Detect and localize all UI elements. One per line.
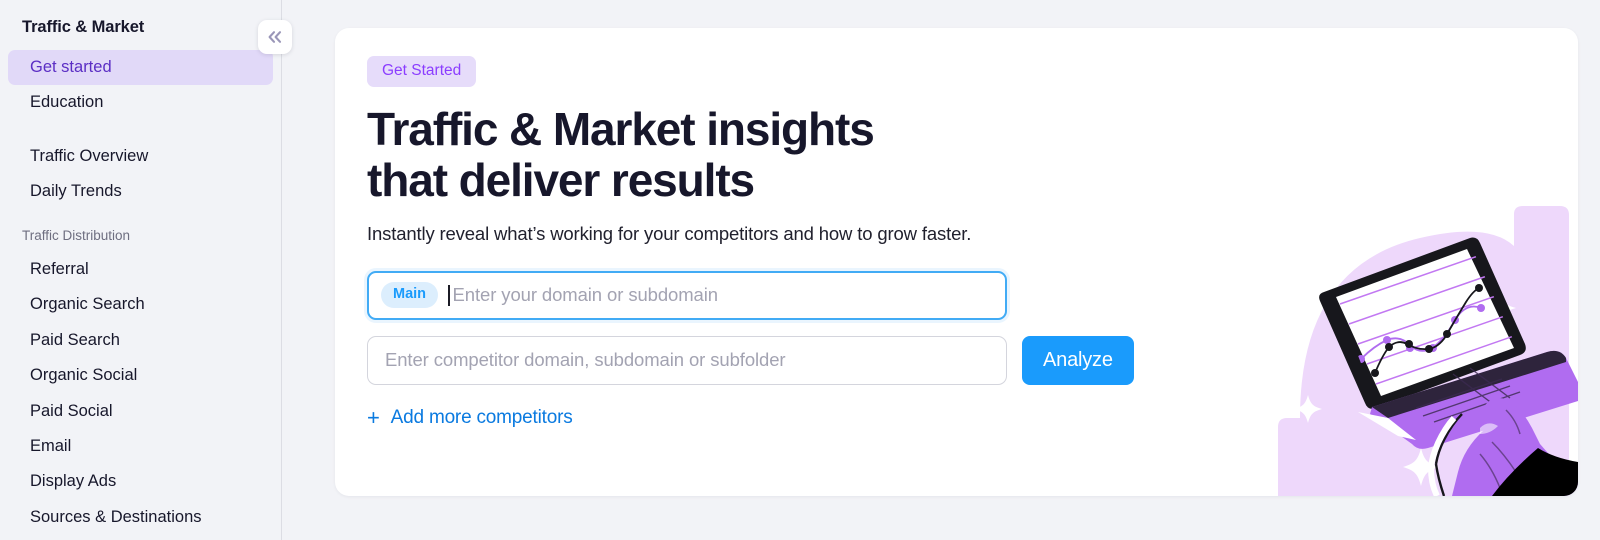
competitor-domain-placeholder: Enter competitor domain, subdomain or su…: [385, 349, 785, 371]
main-content: Get Started Traffic & Market insights th…: [282, 0, 1600, 540]
main-domain-placeholder: Enter your domain or subdomain: [453, 284, 718, 306]
sidebar-divider-gap-1: [0, 121, 281, 139]
sidebar-item-label: Get started: [30, 58, 112, 76]
competitor-row: Enter competitor domain, subdomain or su…: [367, 336, 1578, 385]
add-more-competitors-button[interactable]: + Add more competitors: [367, 407, 573, 429]
sidebar-item-email[interactable]: Email: [8, 429, 273, 464]
status-badge: Get Started: [367, 56, 476, 87]
sidebar-item-label: Daily Trends: [30, 182, 122, 200]
sidebar-title: Traffic & Market: [0, 18, 281, 37]
sidebar-item-paid-search[interactable]: Paid Search: [8, 323, 273, 358]
sidebar-item-traffic-overview[interactable]: Traffic Overview: [8, 139, 273, 174]
sidebar-item-referral[interactable]: Referral: [8, 252, 273, 287]
sidebar-group-traffic-distribution: Referral Organic Search Paid Search Orga…: [0, 252, 281, 536]
analyze-button[interactable]: Analyze: [1022, 336, 1134, 385]
competitor-domain-field[interactable]: Enter competitor domain, subdomain or su…: [367, 336, 1007, 385]
double-chevron-left-icon: [265, 29, 285, 45]
sidebar-item-label: Referral: [30, 260, 89, 278]
sidebar-item-label: Email: [30, 437, 71, 455]
sidebar-item-label: Paid Search: [30, 331, 120, 349]
add-more-competitors-label: Add more competitors: [391, 407, 573, 429]
card-content: Get Started Traffic & Market insights th…: [335, 28, 1578, 430]
sidebar-section-traffic-distribution: Traffic Distribution: [0, 228, 281, 243]
sidebar-item-label: Organic Search: [30, 295, 145, 313]
page-subtitle: Instantly reveal what’s working for your…: [367, 223, 1578, 245]
get-started-card: Get Started Traffic & Market insights th…: [335, 28, 1578, 496]
sidebar-item-organic-social[interactable]: Organic Social: [8, 358, 273, 393]
text-caret: [448, 285, 450, 306]
sidebar-item-education[interactable]: Education: [8, 85, 273, 120]
sidebar-item-label: Education: [30, 93, 103, 111]
sidebar-item-daily-trends[interactable]: Daily Trends: [8, 174, 273, 209]
main-tag-badge: Main: [381, 282, 438, 308]
sidebar-group-primary: Get started Education: [0, 50, 281, 121]
page-title: Traffic & Market insights that deliver r…: [367, 104, 1578, 206]
sidebar-item-label: Sources & Destinations: [30, 508, 202, 526]
sidebar-divider-gap-2: [0, 210, 281, 228]
sidebar-item-organic-search[interactable]: Organic Search: [8, 287, 273, 322]
main-domain-field[interactable]: Main Enter your domain or subdomain: [367, 271, 1007, 320]
sidebar-item-label: Traffic Overview: [30, 147, 148, 165]
sidebar-item-label: Organic Social: [30, 366, 137, 384]
sidebar-item-sources-destinations[interactable]: Sources & Destinations: [8, 500, 273, 535]
sidebar-item-label: Paid Social: [30, 402, 113, 420]
sidebar: Traffic & Market Get started Education T…: [0, 0, 282, 540]
sidebar-item-label: Display Ads: [30, 472, 116, 490]
sidebar-item-paid-social[interactable]: Paid Social: [8, 394, 273, 429]
sidebar-item-display-ads[interactable]: Display Ads: [8, 464, 273, 499]
app-root: Traffic & Market Get started Education T…: [0, 0, 1600, 540]
plus-icon: +: [367, 407, 380, 429]
domain-analysis-form: Main Enter your domain or subdomain Ente…: [367, 271, 1578, 430]
sidebar-collapse-button[interactable]: [258, 20, 292, 54]
sidebar-group-overview: Traffic Overview Daily Trends: [0, 139, 281, 210]
sidebar-item-get-started[interactable]: Get started: [8, 50, 273, 85]
